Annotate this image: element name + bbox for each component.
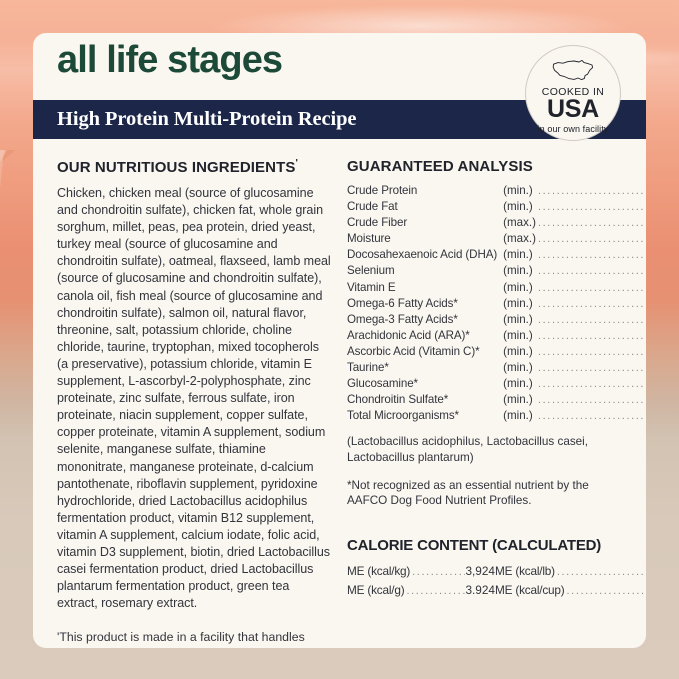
analysis-nutrient: Omega-6 Fatty Acids* [347, 297, 497, 313]
analysis-qualifier: (min.) [497, 184, 536, 200]
calorie-item: ME (kcal/g).............................… [347, 583, 495, 597]
analysis-qualifier: (min.) [497, 361, 536, 377]
recipe-name: High Protein Multi-Protein Recipe [57, 108, 356, 131]
analysis-nutrient: Total Microorganisms* [347, 409, 497, 425]
analysis-row: Taurine*(min.)..........................… [347, 361, 646, 377]
calorie-value: 3.924 [465, 583, 495, 597]
leader-dots: ........................................… [536, 361, 646, 377]
label-body: OUR NUTRITIOUS INGREDIENTS' Chicken, chi… [33, 139, 646, 648]
analysis-nutrient: Arachidonic Acid (ARA)* [347, 329, 497, 345]
ingredients-footnote: 'This product is made in a facility that… [57, 629, 333, 648]
analysis-qualifier: (min.) [497, 329, 536, 345]
calorie-label: ME (kcal/g) [347, 583, 404, 597]
analysis-qualifier: (min.) [497, 264, 536, 280]
calorie-label: ME (kcal/cup) [495, 583, 565, 597]
analysis-nutrient: Selenium [347, 264, 497, 280]
analysis-row: Omega-3 Fatty Acids*(min.)..............… [347, 313, 646, 329]
analysis-heading: GUARANTEED ANALYSIS [347, 158, 622, 175]
leader-dots: ........................................… [536, 345, 646, 361]
badge-line-2: USA [547, 97, 599, 122]
analysis-row: Arachidonic Acid (ARA)*(min.)...........… [347, 329, 646, 345]
usa-map-icon [551, 58, 595, 83]
ingredients-text: Chicken, chicken meal (source of glucosa… [57, 185, 333, 612]
analysis-rows: Crude Protein(min.).....................… [347, 184, 646, 425]
leader-dots: ........................................… [536, 216, 646, 232]
analysis-row: Glucosamine*(min.)......................… [347, 377, 646, 393]
leader-dots: ........................................… [536, 377, 646, 393]
cooked-in-usa-badge: COOKED IN USA in our own facility [525, 45, 621, 141]
calorie-grid: ME (kcal/kg)............................… [347, 564, 622, 597]
leader-dots: ........................................… [536, 232, 646, 248]
analysis-row: Chondroitin Sulfate*(min.)..............… [347, 393, 646, 409]
analysis-qualifier: (max.) [497, 216, 536, 232]
leader-dots: ........................................… [536, 313, 646, 329]
analysis-nutrient: Chondroitin Sulfate* [347, 393, 497, 409]
leader-dots: ........................................… [565, 585, 646, 597]
analysis-qualifier: (min.) [497, 313, 536, 329]
analysis-row: Crude Fat(min.).........................… [347, 200, 646, 216]
analysis-row: Vitamin E(min.).........................… [347, 281, 646, 297]
leader-dots: ........................................… [536, 200, 646, 216]
analysis-nutrient: Vitamin E [347, 281, 497, 297]
ingredients-heading: OUR NUTRITIOUS INGREDIENTS' [57, 158, 333, 176]
analysis-row: Crude Fiber(max.).......................… [347, 216, 646, 232]
leader-dots: ........................................… [555, 566, 646, 578]
analysis-qualifier: (min.) [497, 409, 536, 425]
analysis-column: GUARANTEED ANALYSIS Crude Protein(min.).… [347, 158, 622, 648]
leader-dots: ........................................… [536, 329, 646, 345]
ingredients-heading-mark: ' [295, 158, 297, 169]
leader-dots: ........................................… [404, 585, 465, 597]
analysis-qualifier: (min.) [497, 297, 536, 313]
analysis-qualifier: (max.) [497, 232, 536, 248]
calorie-value: 3,924 [465, 564, 495, 578]
calorie-item: ME (kcal/cup)...........................… [495, 583, 646, 597]
analysis-row: Selenium(min.)..........................… [347, 264, 646, 280]
analysis-row: Ascorbic Acid (Vitamin C)*(min.)........… [347, 345, 646, 361]
analysis-row: Moisture(max.)..........................… [347, 232, 646, 248]
calorie-heading: CALORIE CONTENT (CALCULATED) [347, 537, 622, 554]
analysis-nutrient: Crude Fat [347, 200, 497, 216]
calorie-label: ME (kcal/lb) [495, 564, 555, 578]
calorie-item: ME (kcal/lb)............................… [495, 564, 646, 578]
leader-dots: ........................................… [536, 393, 646, 409]
analysis-qualifier: (min.) [497, 345, 536, 361]
calorie-label: ME (kcal/kg) [347, 564, 410, 578]
guaranteed-analysis-table: Crude Protein(min.).....................… [347, 184, 646, 425]
page-title: all life stages [57, 41, 282, 79]
ingredients-column: OUR NUTRITIOUS INGREDIENTS' Chicken, chi… [57, 158, 347, 648]
analysis-qualifier: (min.) [497, 200, 536, 216]
leader-dots: ........................................… [536, 281, 646, 297]
leader-dots: ........................................… [536, 297, 646, 313]
analysis-nutrient: Docosahexaenoic Acid (DHA) [347, 248, 497, 264]
organisms-list: (Lactobacillus acidophilus, Lactobacillu… [347, 434, 622, 465]
analysis-qualifier: (min.) [497, 248, 536, 264]
analysis-nutrient: Crude Protein [347, 184, 497, 200]
analysis-qualifier: (min.) [497, 377, 536, 393]
leader-dots: ........................................… [536, 264, 646, 280]
leader-dots: ........................................… [410, 566, 465, 578]
analysis-nutrient: Omega-3 Fatty Acids* [347, 313, 497, 329]
calorie-item: ME (kcal/kg)............................… [347, 564, 495, 578]
analysis-nutrient: Ascorbic Acid (Vitamin C)* [347, 345, 497, 361]
analysis-nutrient: Crude Fiber [347, 216, 497, 232]
leader-dots: ........................................… [536, 409, 646, 425]
analysis-row: Docosahexaenoic Acid (DHA)(min.)........… [347, 248, 646, 264]
analysis-nutrient: Taurine* [347, 361, 497, 377]
calorie-content-block: CALORIE CONTENT (CALCULATED) ME (kcal/kg… [347, 537, 622, 597]
analysis-nutrient: Moisture [347, 232, 497, 248]
analysis-nutrient: Glucosamine* [347, 377, 497, 393]
analysis-footnote: *Not recognized as an essential nutrient… [347, 478, 622, 509]
ingredients-heading-text: OUR NUTRITIOUS INGREDIENTS [57, 159, 295, 176]
badge-line-3: in our own facility [538, 124, 609, 134]
label-card: all life stages High Protein Multi-Prote… [33, 33, 646, 648]
analysis-row: Omega-6 Fatty Acids*(min.)..............… [347, 297, 646, 313]
analysis-qualifier: (min.) [497, 281, 536, 297]
analysis-row: Total Microorganisms*(min.).............… [347, 409, 646, 425]
analysis-qualifier: (min.) [497, 393, 536, 409]
leader-dots: ........................................… [536, 248, 646, 264]
analysis-row: Crude Protein(min.).....................… [347, 184, 646, 200]
leader-dots: ........................................… [536, 184, 646, 200]
